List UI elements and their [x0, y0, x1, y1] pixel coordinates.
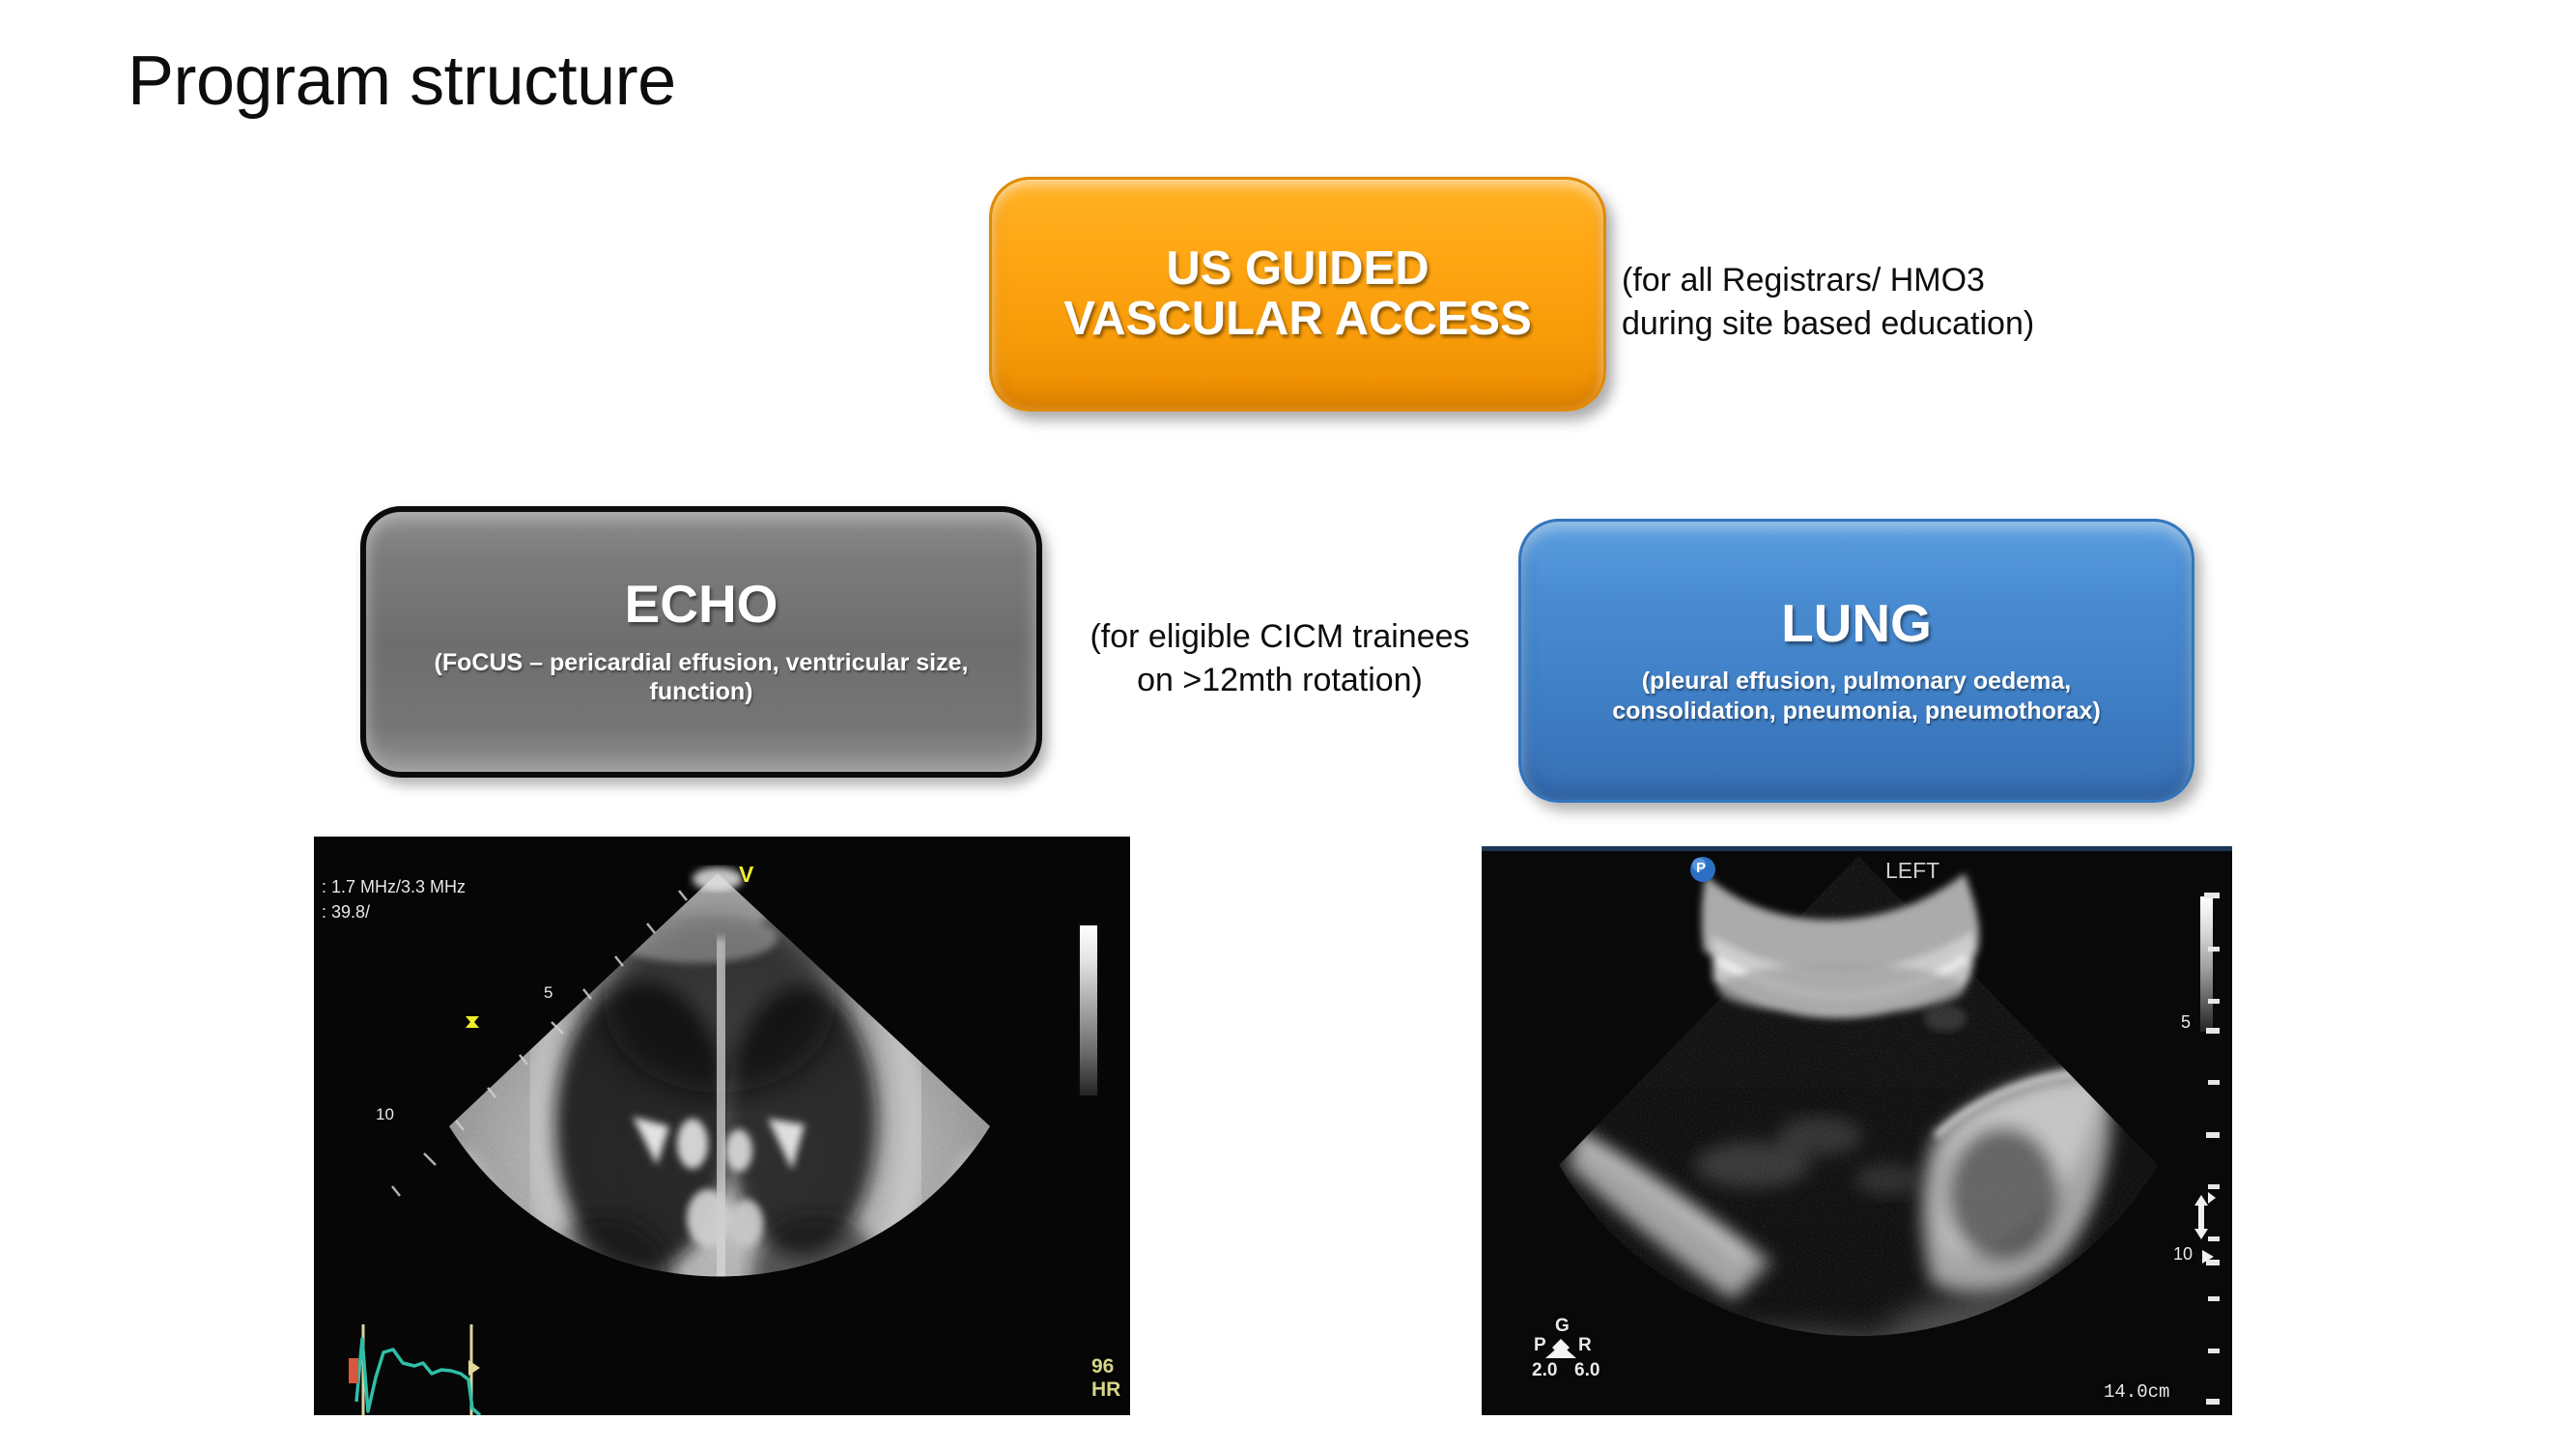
process-box-lung[interactable]: LUNG (pleural effusion, pulmonary oedema… [1518, 519, 2194, 803]
echo-subtitle: (FoCUS – pericardial effusion, ventricul… [411, 648, 991, 707]
lung-depth-total: 14.0cm [2104, 1381, 2169, 1403]
echo-frequency-label: : 1.7 MHz/3.3 MHz [322, 877, 466, 897]
note-cicm-trainees: (for eligible CICM trainees on >12mth ro… [1077, 615, 1483, 702]
process-box-vascular-access[interactable]: US GUIDED VASCULAR ACCESS [989, 177, 1606, 412]
echo-ultrasound-image: : 1.7 MHz/3.3 MHz : 39.8/ 5 10 V 96 HR [314, 837, 1130, 1415]
lung-ultrasound-graphic [1482, 846, 2232, 1415]
lung-depth-marker-5: 5 [2181, 1012, 2191, 1033]
note-vascular-line2: during site based education) [1622, 302, 2034, 346]
process-box-echo[interactable]: ECHO (FoCUS – pericardial effusion, vent… [360, 506, 1042, 778]
lung-preset-badge-label: P [1696, 860, 1706, 876]
echo-apex-marker: V [739, 862, 753, 888]
lung-right-letter: R [1578, 1335, 1592, 1356]
lung-value-right: 6.0 [1574, 1360, 1599, 1381]
note-vascular-access: (for all Registrars/ HMO3 during site ba… [1622, 259, 2034, 346]
lung-value-left: 2.0 [1532, 1360, 1557, 1381]
lung-side-label: LEFT [1885, 858, 1939, 884]
echo-ultrasound-graphic [314, 837, 1130, 1415]
echo-heart-rate-unit: HR [1091, 1379, 1120, 1400]
lung-ultrasound-image: P LEFT 5 10 14.0cm G P R 2.0 6.0 [1482, 846, 2232, 1415]
vascular-title-line2: VASCULAR ACCESS [1063, 295, 1532, 344]
echo-depth-marker-10: 10 [376, 1105, 394, 1124]
note-echo-lung-line2: on >12mth rotation) [1077, 659, 1483, 702]
lung-depth-marker-10: 10 [2173, 1244, 2193, 1264]
page-title: Program structure [127, 43, 676, 120]
note-echo-lung-line1: (for eligible CICM trainees [1077, 615, 1483, 659]
echo-heart-rate-value: 96 [1091, 1356, 1114, 1377]
note-vascular-line1: (for all Registrars/ HMO3 [1622, 259, 2034, 302]
lung-left-letter: P [1534, 1335, 1546, 1356]
echo-gain-label: : 39.8/ [322, 902, 370, 923]
lung-subtitle: (pleural effusion, pulmonary oedema, con… [1557, 667, 2156, 725]
echo-depth-marker-5: 5 [544, 983, 552, 1003]
echo-title: ECHO [625, 577, 778, 633]
lung-gain-letter: G [1555, 1316, 1570, 1337]
lung-title: LUNG [1781, 596, 1932, 652]
vascular-title-line1: US GUIDED [1166, 244, 1429, 294]
